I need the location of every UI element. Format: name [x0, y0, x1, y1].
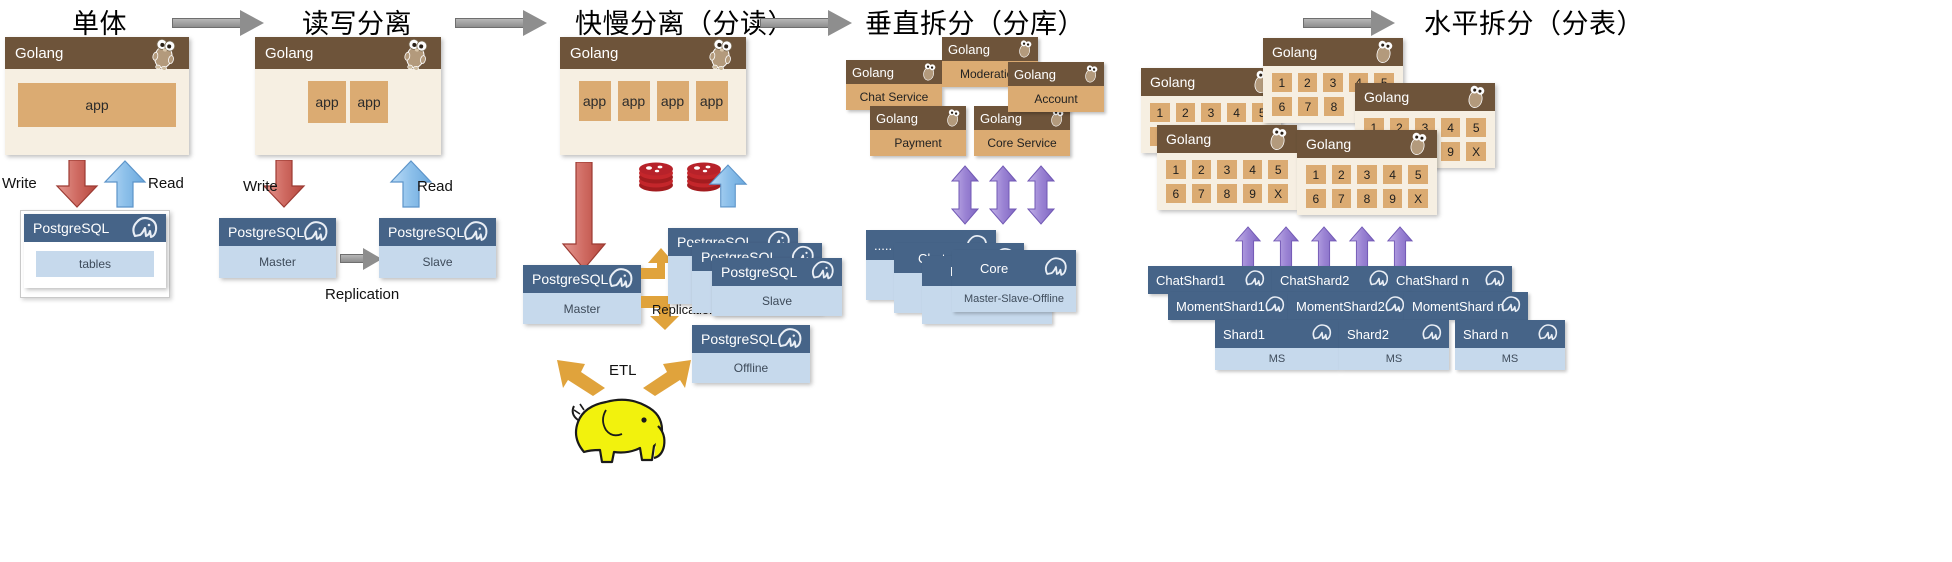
- stage-title-vertical: 垂直拆分（分库）: [865, 2, 1085, 41]
- golang-label: Golang: [948, 42, 990, 57]
- postgres-label: PostgreSQL: [388, 224, 464, 240]
- tables-box: tables: [36, 251, 154, 277]
- postgres-card-header: PostgreSQL: [219, 218, 336, 246]
- elephant-icon: [1420, 321, 1444, 347]
- shard-cell: 2: [1192, 160, 1212, 179]
- elephant-icon: [606, 265, 636, 295]
- elephant-icon: [1263, 293, 1287, 319]
- shard-cell: 4: [1243, 160, 1263, 179]
- service-card-header: Golang: [870, 106, 966, 130]
- golang-label: Golang: [876, 111, 918, 126]
- write-arrow-monolith: [55, 160, 99, 213]
- shard-cell: 2: [1176, 103, 1196, 122]
- golang-card-body: app: [5, 69, 189, 141]
- elephant-icon: [1310, 321, 1334, 347]
- transition-arrow-2: [455, 10, 547, 36]
- shard-row: 6 7 8 9 X: [1306, 189, 1428, 208]
- shard-cell: 6: [1272, 97, 1292, 116]
- elephant-icon: [1536, 321, 1560, 347]
- postgres-label: PostgreSQL: [701, 331, 777, 347]
- shard-cell: 8: [1324, 97, 1344, 116]
- transition-arrow-3: [760, 10, 852, 36]
- replication-arrow-rw: [340, 248, 382, 270]
- hadoop-elephant-icon: [566, 388, 676, 471]
- shard-db-header: Shard2: [1339, 320, 1449, 348]
- arrow-shaft: [340, 254, 364, 263]
- shard-db-header: MomentShard n: [1404, 292, 1528, 320]
- shard-cell: 3: [1217, 160, 1237, 179]
- shard-cell: 4: [1383, 165, 1403, 184]
- gopher-icon: [1081, 63, 1101, 88]
- etl-label: ETL: [609, 362, 637, 379]
- shard-db-name: Shard n: [1463, 327, 1509, 342]
- shard-db-momentshard2: MomentShard2: [1288, 292, 1412, 320]
- service-card-core: Golang Core Service: [974, 106, 1070, 156]
- shard-cell: 7: [1192, 184, 1212, 203]
- shard-cell: 7: [1332, 189, 1352, 208]
- sync-arrow-2: [988, 165, 1018, 230]
- shard-db-header: MomentShard1: [1168, 292, 1292, 320]
- read-arrow-monolith: [103, 160, 147, 213]
- elephant-icon: [775, 325, 805, 355]
- postgres-role: Slave: [712, 286, 842, 316]
- shard-cell: 4: [1227, 103, 1247, 122]
- gopher-icon: [1405, 131, 1431, 160]
- gopher-icon: [1463, 84, 1489, 113]
- shard-db-name: ChatShard2: [1280, 273, 1349, 288]
- arrow-shaft: [172, 18, 242, 28]
- postgres-label: PostgreSQL: [33, 220, 109, 236]
- golang-label: Golang: [980, 111, 1022, 126]
- shard-cell: 3: [1323, 73, 1343, 92]
- read-label-rw: Read: [417, 178, 453, 195]
- shard-db-sub: MS: [1215, 348, 1339, 370]
- postgres-slave-card-3: PostgreSQL Slave: [712, 258, 842, 316]
- shard-db-name: MomentShard1: [1176, 299, 1265, 314]
- shard-cell: 1: [1272, 73, 1292, 92]
- golang-label: Golang: [15, 45, 63, 62]
- postgres-card-monolith: PostgreSQL tables: [24, 214, 166, 288]
- golang-label: Golang: [1272, 44, 1317, 60]
- postgres-slave-card-rw: PostgreSQL Slave: [379, 218, 496, 278]
- shard-cell: 7: [1298, 97, 1318, 116]
- arrow-head: [523, 10, 547, 36]
- golang-label: Golang: [1150, 74, 1195, 90]
- arrow-head: [828, 10, 852, 36]
- shard-db-chatshard-n: ChatShard n: [1388, 266, 1512, 294]
- postgres-label: PostgreSQL: [721, 264, 797, 280]
- app-box: app: [18, 83, 176, 127]
- golang-card-header: Golang: [560, 37, 746, 69]
- elephant-icon: [1243, 267, 1267, 293]
- service-card-header: Golang: [942, 37, 1038, 61]
- shard-cell: 9: [1441, 142, 1461, 161]
- shard-db-momentshard-n: MomentShard n: [1404, 292, 1528, 320]
- shard-db-name: Shard2: [1347, 327, 1389, 342]
- golang-label: Golang: [1306, 136, 1351, 152]
- shard-cell: 2: [1298, 73, 1318, 92]
- shard-db-name: MomentShard2: [1296, 299, 1385, 314]
- shard-cell: 1: [1166, 160, 1186, 179]
- shard-db-name: ChatShard1: [1156, 273, 1225, 288]
- arrow-head: [1371, 10, 1395, 36]
- write-label-monolith: Write: [2, 175, 37, 192]
- write-label-rw: Write: [243, 178, 278, 195]
- golang-label: Golang: [1166, 131, 1211, 147]
- gopher-icon: [943, 107, 963, 132]
- shard-db-chatshard2: ChatShard2: [1272, 266, 1396, 294]
- redis-icon-1: [636, 160, 676, 199]
- gopher-icon: [147, 38, 181, 74]
- shard-db-shard2: Shard2 MS: [1339, 320, 1449, 370]
- shard-golang-card-4: Golang 1 2 3 4 5 6 7 8 9: [1157, 125, 1297, 210]
- postgres-label: PostgreSQL: [228, 224, 304, 240]
- shard-row: 6 7 8 9 X: [1166, 184, 1288, 203]
- service-name: Payment: [870, 130, 966, 156]
- shard-cell: 5: [1408, 165, 1428, 184]
- service-card-chat: Golang Chat Service: [846, 60, 942, 110]
- golang-label: Golang: [852, 65, 894, 80]
- app-box: app: [350, 81, 388, 123]
- shard-db-header: ChatShard1: [1148, 266, 1272, 294]
- shard-cell: 3: [1201, 103, 1221, 122]
- service-card-header: Golang: [1008, 62, 1104, 86]
- shard-cell: 5: [1466, 118, 1486, 137]
- database-name: .....: [874, 238, 892, 253]
- service-name: Core Service: [974, 130, 1070, 156]
- golang-card-header: Golang: [255, 37, 441, 69]
- postgres-card-header: PostgreSQL: [523, 265, 641, 293]
- postgres-role: Slave: [379, 246, 496, 278]
- golang-card-header: Golang: [5, 37, 189, 69]
- gopher-icon: [1265, 126, 1291, 155]
- service-card-payment: Golang Payment: [870, 106, 966, 156]
- postgres-card-header: PostgreSQL: [379, 218, 496, 246]
- service-card-header: Golang: [846, 60, 942, 84]
- elephant-icon: [129, 214, 161, 245]
- shard-cell: 5: [1268, 160, 1288, 179]
- golang-app-card-rw: Golang app app: [255, 37, 441, 155]
- postgres-role: Master: [523, 293, 641, 324]
- shard-golang-card-5: Golang 1 2 3 4 5 6 7 8 9: [1297, 130, 1437, 215]
- shard-db-name: Shard1: [1223, 327, 1265, 342]
- shard-cell: 3: [1357, 165, 1377, 184]
- golang-label: Golang: [265, 45, 313, 62]
- shard-row: 1 2 3 4 5: [1150, 103, 1272, 122]
- golang-card-header: Golang: [1263, 38, 1403, 66]
- shard-db-sub: MS: [1455, 348, 1565, 370]
- shard-cell: 2: [1332, 165, 1352, 184]
- gopher-icon: [919, 61, 939, 86]
- elephant-icon: [1499, 293, 1523, 319]
- stage-title-monolith: 单体: [72, 2, 127, 41]
- gopher-icon: [399, 38, 433, 74]
- postgres-card-header: PostgreSQL: [24, 214, 166, 242]
- golang-card-body: app app app app: [560, 69, 746, 133]
- postgres-role: Offline: [692, 353, 810, 383]
- golang-card-header: Golang: [1141, 68, 1281, 96]
- golang-app-card-fs: Golang app app app app: [560, 37, 746, 155]
- shard-table: 1 2 3 4 5 6 7 8 9 X: [1297, 158, 1437, 215]
- transition-arrow-1: [172, 10, 264, 36]
- shard-cell: X: [1408, 189, 1428, 208]
- shard-db-header: Shard n: [1455, 320, 1565, 348]
- elephant-icon: [809, 258, 837, 286]
- read-arrow-fs: [708, 163, 748, 214]
- shard-db-chatshard1: ChatShard1: [1148, 266, 1272, 294]
- shard-row: 1 2 3 4 5: [1166, 160, 1288, 179]
- shard-cell: 4: [1441, 118, 1461, 137]
- postgres-offline-card-fs: PostgreSQL Offline: [692, 325, 810, 383]
- shard-db-header: ChatShard2: [1272, 266, 1396, 294]
- transition-arrow-4: [1303, 10, 1395, 36]
- shard-db-sub: MS: [1339, 348, 1449, 370]
- golang-label: Golang: [570, 45, 618, 62]
- shard-db-shard1: Shard1 MS: [1215, 320, 1339, 370]
- shard-cell: X: [1268, 184, 1288, 203]
- shard-db-shard-n: Shard n MS: [1455, 320, 1565, 370]
- postgres-card-header: PostgreSQL: [692, 325, 810, 353]
- service-name: Account: [1008, 86, 1104, 112]
- shard-db-header: ChatShard n: [1388, 266, 1512, 294]
- postgres-label: PostgreSQL: [532, 271, 608, 287]
- postgres-master-card-fs: PostgreSQL Master: [523, 265, 641, 324]
- app-box: app: [308, 81, 346, 123]
- database-header: Core: [952, 250, 1076, 286]
- app-box: app: [618, 81, 650, 121]
- app-box: app: [657, 81, 689, 121]
- arrow-shaft: [1303, 18, 1373, 28]
- shard-cell: 8: [1217, 184, 1237, 203]
- postgres-card-header: PostgreSQL: [712, 258, 842, 286]
- shard-cell: 1: [1306, 165, 1326, 184]
- shard-db-header: MomentShard2: [1288, 292, 1412, 320]
- arrow-head: [240, 10, 264, 36]
- read-label-monolith: Read: [148, 175, 184, 192]
- shard-db-header: Shard1: [1215, 320, 1339, 348]
- stage-title-rw-split: 读写分离: [302, 2, 412, 41]
- database-name: Core: [980, 261, 1008, 276]
- gopher-icon: [1015, 38, 1035, 63]
- shard-cell: 6: [1306, 189, 1326, 208]
- shard-row: 1 2 3 4 5: [1306, 165, 1428, 184]
- golang-card-header: Golang: [1297, 130, 1437, 158]
- elephant-icon: [461, 218, 491, 248]
- sync-arrow-1: [950, 165, 980, 230]
- postgres-card-body: tables: [24, 242, 166, 288]
- database-footer: Master-Slave-Offline: [952, 286, 1076, 312]
- service-card-account: Golang Account: [1008, 62, 1104, 112]
- database-card-core: Core Master-Slave-Offline: [952, 250, 1076, 312]
- golang-card-body: app app: [255, 69, 441, 135]
- shard-db-name: MomentShard n: [1412, 299, 1505, 314]
- gopher-icon: [704, 38, 738, 74]
- golang-label: Golang: [1364, 89, 1409, 105]
- golang-label: Golang: [1014, 67, 1056, 82]
- golang-app-card-monolith: Golang app: [5, 37, 189, 155]
- shard-cell: 6: [1166, 184, 1186, 203]
- golang-card-header: Golang: [1157, 125, 1297, 153]
- elephant-icon: [1483, 267, 1507, 293]
- postgres-master-card-rw: PostgreSQL Master: [219, 218, 336, 278]
- elephant-icon: [1042, 254, 1070, 283]
- write-arrow-fs: [561, 162, 607, 275]
- shard-cell: X: [1466, 142, 1486, 161]
- postgres-role: Master: [219, 246, 336, 278]
- architecture-evolution-diagram: 单体 读写分离 快慢分离（分读） 垂直拆分（分库） 水平拆分（分表） Golan…: [0, 0, 1952, 562]
- arrow-shaft: [760, 18, 830, 28]
- shard-cell: 8: [1357, 189, 1377, 208]
- sync-arrow-3: [1026, 165, 1056, 230]
- shard-cell: 9: [1383, 189, 1403, 208]
- shard-cell: 1: [1150, 103, 1170, 122]
- golang-card-header: Golang: [1355, 83, 1495, 111]
- app-box: app: [696, 81, 728, 121]
- stage-title-horizontal: 水平拆分（分表）: [1424, 2, 1644, 41]
- shard-table: 1 2 3 4 5 6 7 8 9 X: [1157, 153, 1297, 210]
- shard-db-name: ChatShard n: [1396, 273, 1469, 288]
- shard-db-momentshard1: MomentShard1: [1168, 292, 1292, 320]
- replication-label-rw: Replication: [325, 286, 399, 303]
- app-box: app: [579, 81, 611, 121]
- shard-cell: 9: [1243, 184, 1263, 203]
- arrow-shaft: [455, 18, 525, 28]
- gopher-icon: [1371, 39, 1397, 68]
- elephant-icon: [301, 218, 331, 248]
